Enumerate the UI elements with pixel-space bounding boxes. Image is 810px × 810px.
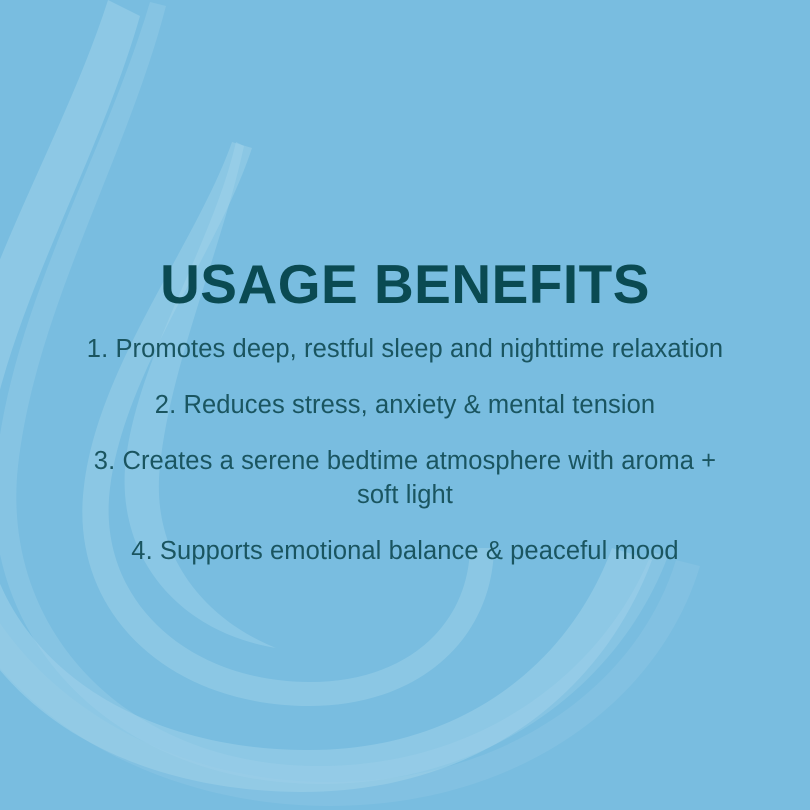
- benefit-item-1: 1. Promotes deep, restful sleep and nigh…: [85, 332, 725, 366]
- poster-content: USAGE BENEFITS 1. Promotes deep, restful…: [0, 0, 810, 810]
- benefit-item-3: 3. Creates a serene bedtime atmosphere w…: [85, 444, 725, 512]
- benefit-item-4: 4. Supports emotional balance & peaceful…: [85, 534, 725, 568]
- benefit-item-2: 2. Reduces stress, anxiety & mental tens…: [85, 388, 725, 422]
- poster-canvas: USAGE BENEFITS 1. Promotes deep, restful…: [0, 0, 810, 810]
- page-title: USAGE BENEFITS: [0, 251, 810, 317]
- benefits-list: 1. Promotes deep, restful sleep and nigh…: [0, 332, 810, 568]
